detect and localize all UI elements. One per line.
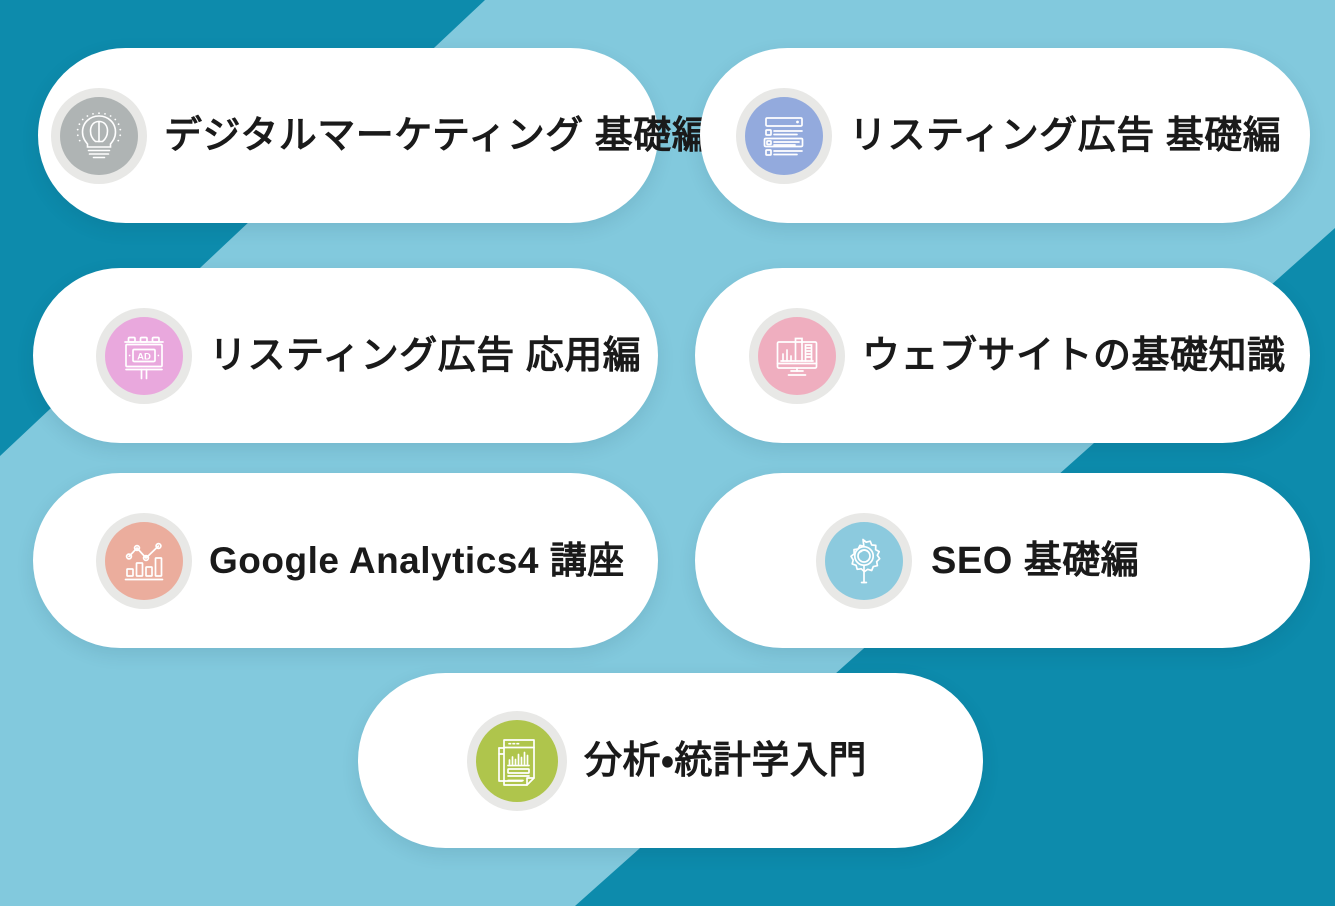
report-document-chart-icon	[492, 734, 542, 788]
search-results-list-icon	[759, 111, 809, 161]
course-card-label: SEO 基礎編	[931, 542, 1139, 580]
svg-text:AD: AD	[137, 351, 151, 362]
course-card-listing-ads-basic[interactable]: リスティング広告 基礎編	[700, 48, 1310, 223]
course-card-label: デジタルマーケティング 基礎編	[164, 117, 710, 155]
course-card-label: 分析・統計学入門	[584, 742, 867, 780]
course-card-digital-marketing-basic[interactable]: デジタルマーケティング 基礎編	[38, 48, 658, 223]
ad-billboard-icon-wrapper: AD	[105, 317, 183, 395]
course-card-label: Google Analytics4 講座	[209, 542, 625, 579]
gear-magnifier-icon	[838, 535, 890, 587]
course-list-diagram: デジタルマーケティング 基礎編 リスティング広告 基礎編	[0, 0, 1335, 906]
course-card-listing-ads-advanced[interactable]: AD リスティング広告 応用編	[33, 268, 658, 443]
course-card-statistics-intro[interactable]: 分析・統計学入門	[358, 673, 983, 848]
analytics-chart-icon-wrapper	[105, 522, 183, 600]
monitor-chart-icon-wrapper	[758, 317, 836, 395]
course-card-google-analytics4[interactable]: Google Analytics4 講座	[33, 473, 658, 648]
gear-magnifier-icon-wrapper	[825, 522, 903, 600]
course-card-website-basics[interactable]: ウェブサイトの基礎知識	[695, 268, 1310, 443]
lightbulb-brain-icon	[73, 110, 125, 162]
search-results-list-icon-wrapper	[745, 97, 823, 175]
ad-billboard-icon: AD	[118, 330, 170, 382]
monitor-chart-icon	[771, 330, 823, 382]
course-card-label: ウェブサイトの基礎知識	[862, 337, 1286, 375]
lightbulb-brain-icon-wrapper	[60, 97, 138, 175]
report-document-chart-icon-wrapper	[476, 720, 558, 802]
course-card-label: リスティング広告 基礎編	[849, 117, 1281, 155]
course-card-label: リスティング広告 応用編	[209, 337, 641, 375]
analytics-chart-icon	[119, 536, 169, 586]
course-card-seo-basic[interactable]: SEO 基礎編	[695, 473, 1310, 648]
